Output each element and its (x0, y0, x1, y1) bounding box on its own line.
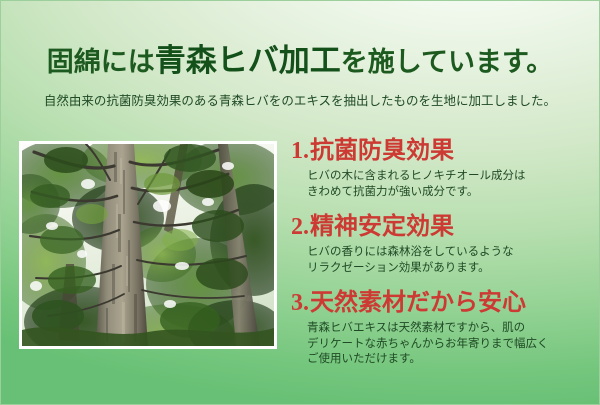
benefit-2-number: 2. (291, 214, 309, 240)
benefit-1-number: 1. (291, 138, 309, 164)
benefit-3-body: 青森ヒバエキスは天然素材ですから、肌の デリケートな赤ちゃんからお年寄りまで幅広… (307, 321, 591, 368)
benefit-3-label: 天然素材だから安心 (310, 290, 526, 316)
benefit-2-label: 精神安定効果 (310, 214, 454, 240)
page-title: 固綿には青森ヒバ加工を施しています。 (0, 44, 600, 79)
subtitle: 自然由来の抗菌防臭効果のある青森ヒバをのエキスを抽出したものを生地に加工しました… (0, 92, 600, 110)
benefit-3-title: 3.天然素材だから安心 (291, 288, 591, 318)
benefit-item-1: 1.抗菌防臭効果 ヒバの木に含まれるヒノキチオール成分は きわめて抗菌力が強い成… (291, 136, 591, 200)
benefit-1-label: 抗菌防臭効果 (310, 138, 454, 164)
benefits-list: 1.抗菌防臭効果 ヒバの木に含まれるヒノキチオール成分は きわめて抗菌力が強い成… (291, 136, 591, 376)
benefit-item-3: 3.天然素材だから安心 青森ヒバエキスは天然素材ですから、肌の デリケートな赤ち… (291, 288, 591, 368)
hiba-promo-banner: 固綿には青森ヒバ加工を施しています。 自然由来の抗菌防臭効果のある青森ヒバをのエ… (0, 0, 600, 405)
headline-suffix: を施しています。 (341, 47, 554, 77)
forest-canopy-photo (22, 144, 274, 346)
headline-prefix: 固綿には (47, 47, 155, 77)
headline-accent: 青森ヒバ加工 (155, 43, 341, 78)
benefit-3-number: 3. (291, 290, 309, 316)
benefit-2-body: ヒバの香りには森林浴をしているような リラクゼーション効果があります。 (307, 245, 591, 276)
forest-photo-frame (19, 141, 277, 349)
benefit-1-title: 1.抗菌防臭効果 (291, 136, 591, 166)
benefit-2-title: 2.精神安定効果 (291, 212, 591, 242)
benefit-item-2: 2.精神安定効果 ヒバの香りには森林浴をしているような リラクゼーション効果があ… (291, 212, 591, 276)
benefit-1-body: ヒバの木に含まれるヒノキチオール成分は きわめて抗菌力が強い成分です。 (307, 169, 591, 200)
